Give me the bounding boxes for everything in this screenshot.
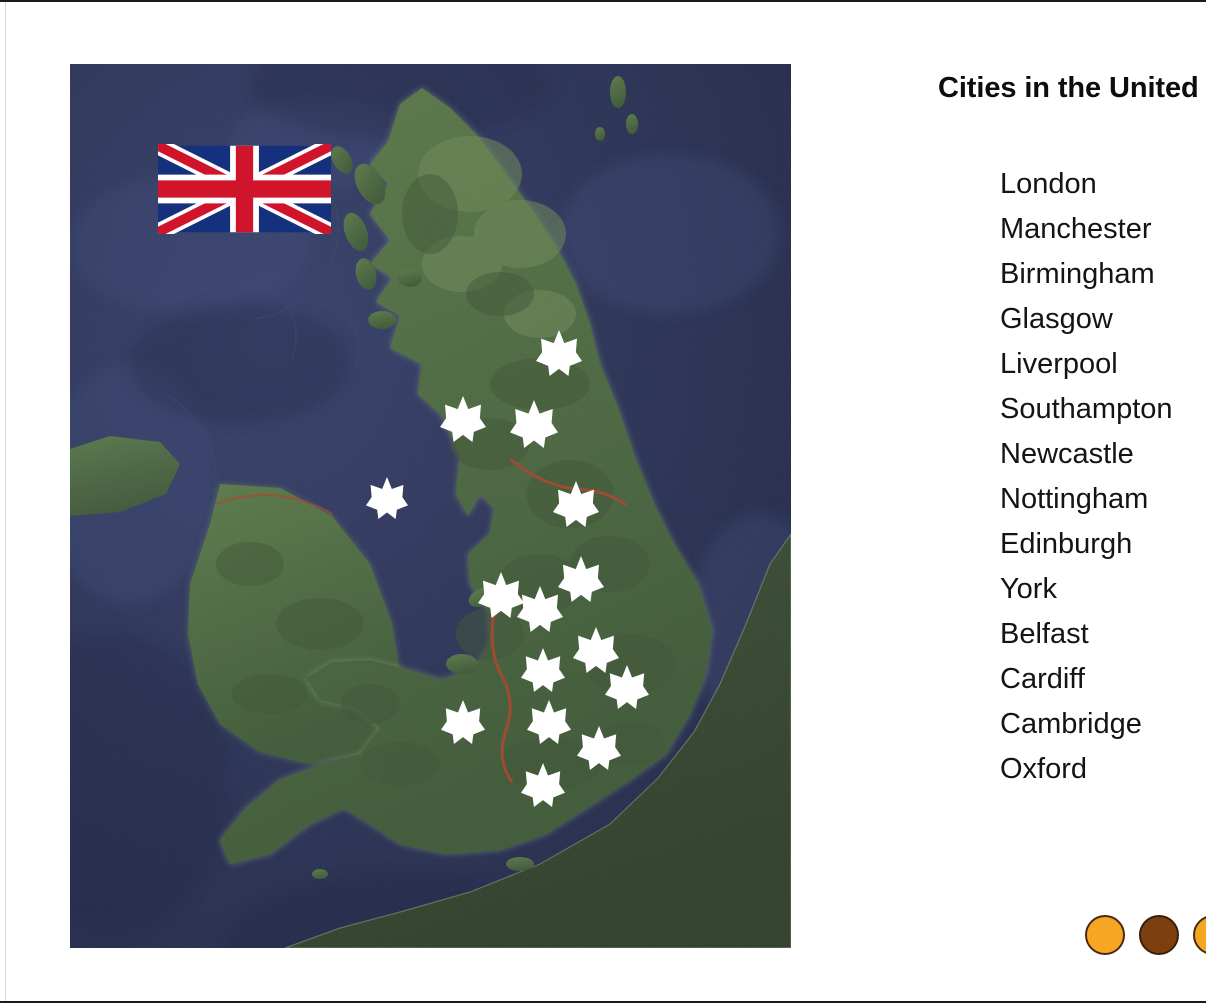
list-item: Nottingham	[1000, 477, 1206, 522]
list-item: Oxford	[1000, 747, 1206, 792]
list-item: Edinburgh	[1000, 522, 1206, 567]
color-dot-row	[1085, 915, 1206, 955]
slide-bottom-border	[0, 1001, 1206, 1003]
slide-left-border	[5, 2, 6, 1001]
list-item: Manchester	[1000, 207, 1206, 252]
dark-brown-dot[interactable]	[1139, 915, 1179, 955]
list-item: London	[1000, 162, 1206, 207]
union-jack-flag	[158, 144, 331, 234]
uk-map-image[interactable]	[70, 64, 791, 948]
list-item: Glasgow	[1000, 297, 1206, 342]
amber-dot[interactable]	[1085, 915, 1125, 955]
amber-dot[interactable]	[1193, 915, 1206, 955]
content-panel: Cities in the United Kingdom LondonManch…	[938, 70, 1206, 792]
list-item: Cardiff	[1000, 657, 1206, 702]
slide-top-border	[0, 0, 1206, 2]
list-item: York	[1000, 567, 1206, 612]
list-item: Southampton	[1000, 387, 1206, 432]
list-item: Belfast	[1000, 612, 1206, 657]
list-item: Newcastle	[1000, 432, 1206, 477]
list-item: Cambridge	[1000, 702, 1206, 747]
list-item: Birmingham	[1000, 252, 1206, 297]
city-list: LondonManchesterBirminghamGlasgowLiverpo…	[938, 106, 1206, 792]
page-title: Cities in the United Kingdom	[938, 70, 1206, 106]
list-item: Liverpool	[1000, 342, 1206, 387]
